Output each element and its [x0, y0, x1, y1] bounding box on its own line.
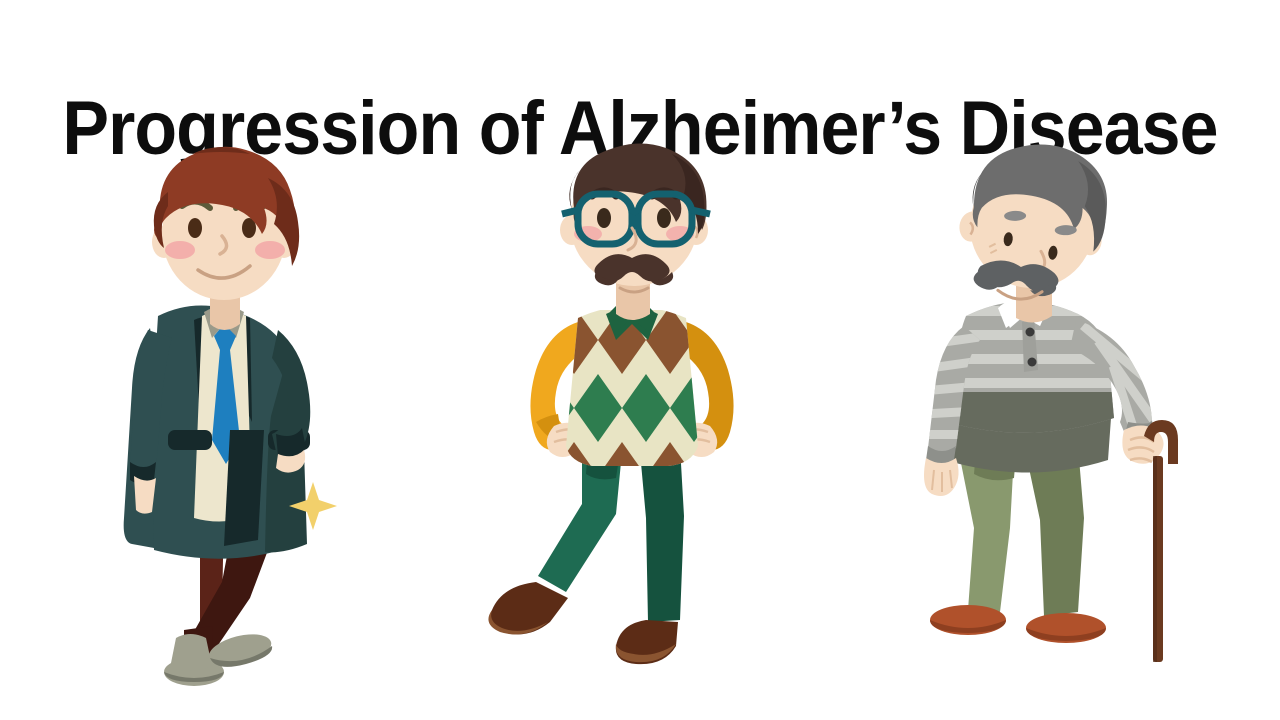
- figure-middle-aged: Middle-aged adult: [470, 130, 810, 690]
- elderly-shoes: [930, 605, 1106, 643]
- elderly-shirt-button: [1026, 328, 1035, 337]
- young-head: [152, 147, 299, 300]
- elderly-shirt-button: [1028, 358, 1037, 367]
- illustration-canvas: Progression of Alzheimer’s Disease Young…: [0, 0, 1280, 720]
- young-overcoat: [124, 305, 311, 558]
- elderly-head: [952, 135, 1114, 308]
- middle-head: [560, 143, 710, 292]
- figure-elderly-adult: Elderly adult: [880, 130, 1220, 690]
- figure-young-adult: Young adult: [72, 130, 412, 690]
